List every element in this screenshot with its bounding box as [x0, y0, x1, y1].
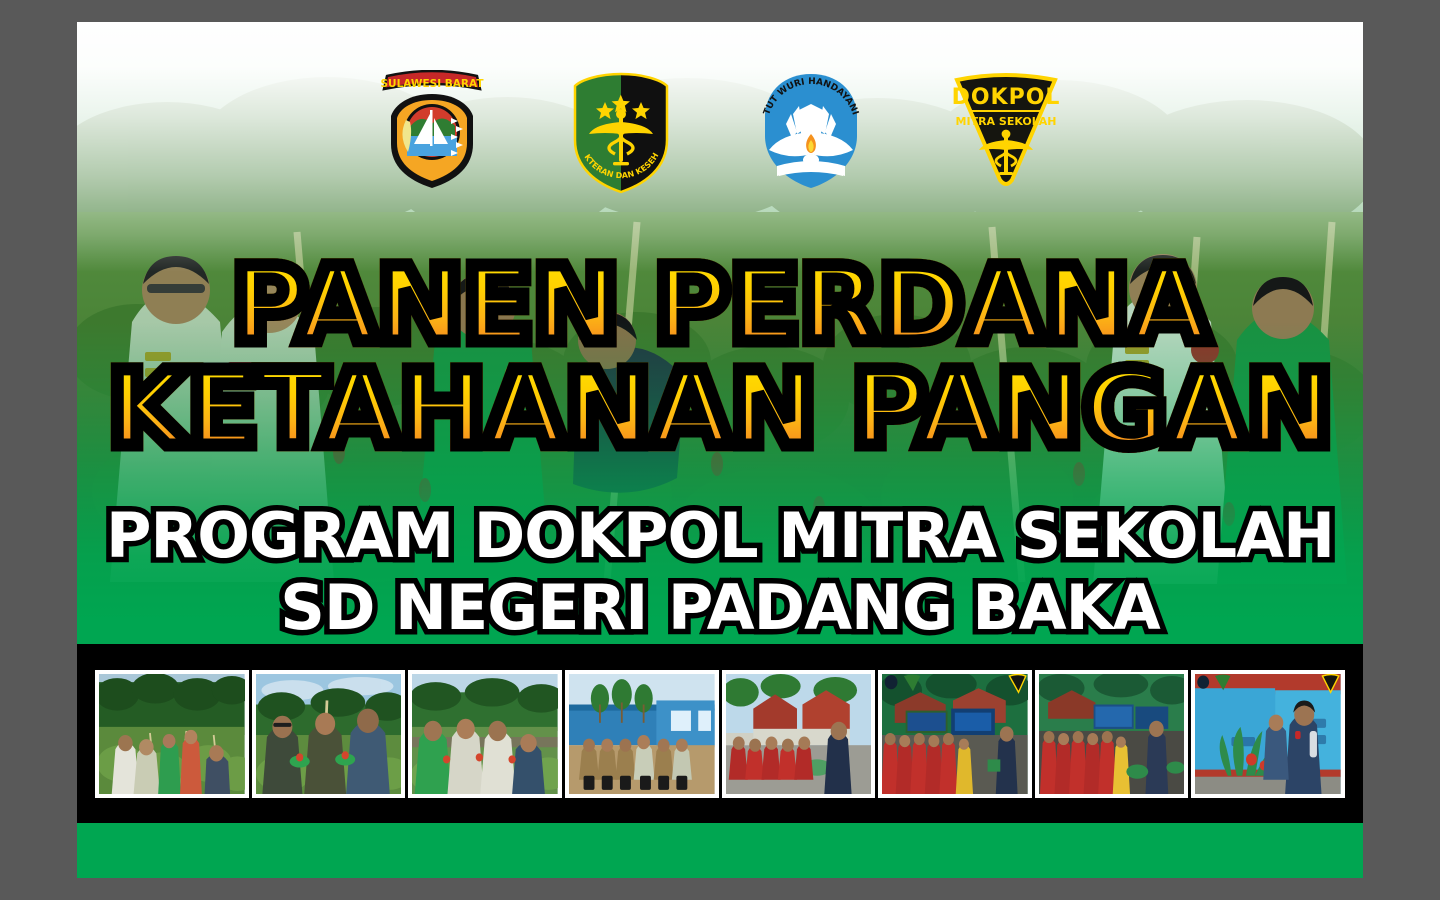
- logo-kedokteran-dan-kesehatan: KEDOKTERAN DAN KESEHATAN: [565, 70, 677, 201]
- photo-3-group-green-shirts: [412, 674, 558, 794]
- dokpol-mitra-sekolah-icon: DOKPOL MITRA SEKOLAH: [945, 70, 1067, 188]
- photo-5-students-lining-up: [726, 674, 872, 794]
- photo-8-art: [1195, 674, 1341, 794]
- photo-2-officers-with-baskets: [256, 674, 402, 794]
- photo-thumbnail[interactable]: [722, 670, 876, 798]
- dokpol-logo-title: DOKPOL: [952, 85, 1061, 110]
- photo-6-art: [882, 674, 1028, 794]
- polda-logo-text: SULAWESI BARAT: [380, 78, 484, 90]
- subtitle-line-2: SD NEGERI PADANG BAKA: [77, 578, 1363, 638]
- photo-3-art: [412, 674, 558, 794]
- kedokteran-dan-kesehatan-icon: KEDOKTERAN DAN KESEHATAN: [565, 70, 677, 196]
- photo-1-harvest-field: [99, 674, 245, 794]
- photo-thumbnail[interactable]: [1035, 670, 1189, 798]
- photo-thumbnail[interactable]: [95, 670, 249, 798]
- bottom-green-band: [77, 823, 1363, 878]
- logo-polda-sulawesi-barat: SULAWESI BARAT: [373, 70, 491, 195]
- photo-thumbnail[interactable]: [252, 670, 406, 798]
- poster-subtitle: PROGRAM DOKPOL MITRA SEKOLAH SD NEGERI P…: [77, 506, 1363, 637]
- photo-7-students-queue-health-booth: [1039, 674, 1185, 794]
- logo-dokpol-mitra-sekolah: DOKPOL MITRA SEKOLAH: [945, 70, 1067, 193]
- photo-5-art: [726, 674, 872, 794]
- photo-thumbnail[interactable]: [1191, 670, 1345, 798]
- photo-4-students-with-planting-bags: [569, 674, 715, 794]
- photo-1-art: [99, 674, 245, 794]
- dokpol-logo-subtitle: MITRA SEKOLAH: [956, 115, 1057, 128]
- photo-4-art: [569, 674, 715, 794]
- photo-thumbnail[interactable]: [565, 670, 719, 798]
- photo-6-school-assembly-banners: [882, 674, 1028, 794]
- poster-title: PANEN PERDANA KETAHANAN PANGAN: [77, 258, 1363, 457]
- photo-thumbnail[interactable]: [878, 670, 1032, 798]
- tut-wuri-handayani-icon: TUT WURI HANDAYANI: [751, 70, 871, 192]
- title-line-1: PANEN PERDANA: [77, 258, 1363, 354]
- logo-tut-wuri-handayani: TUT WURI HANDAYANI: [751, 70, 871, 197]
- photo-8-officer-inspecting-plants: [1195, 674, 1341, 794]
- photo-strip: [77, 644, 1363, 823]
- subtitle-line-1: PROGRAM DOKPOL MITRA SEKOLAH: [77, 506, 1363, 566]
- banner-poster: SULAWESI BARAT: [77, 22, 1363, 878]
- title-line-2: KETAHANAN PANGAN: [77, 362, 1363, 458]
- photo-2-art: [256, 674, 402, 794]
- logo-row: SULAWESI BARAT: [77, 70, 1363, 201]
- photo-7-art: [1039, 674, 1185, 794]
- photo-thumbnail[interactable]: [408, 670, 562, 798]
- polda-sulawesi-barat-icon: SULAWESI BARAT: [373, 70, 491, 190]
